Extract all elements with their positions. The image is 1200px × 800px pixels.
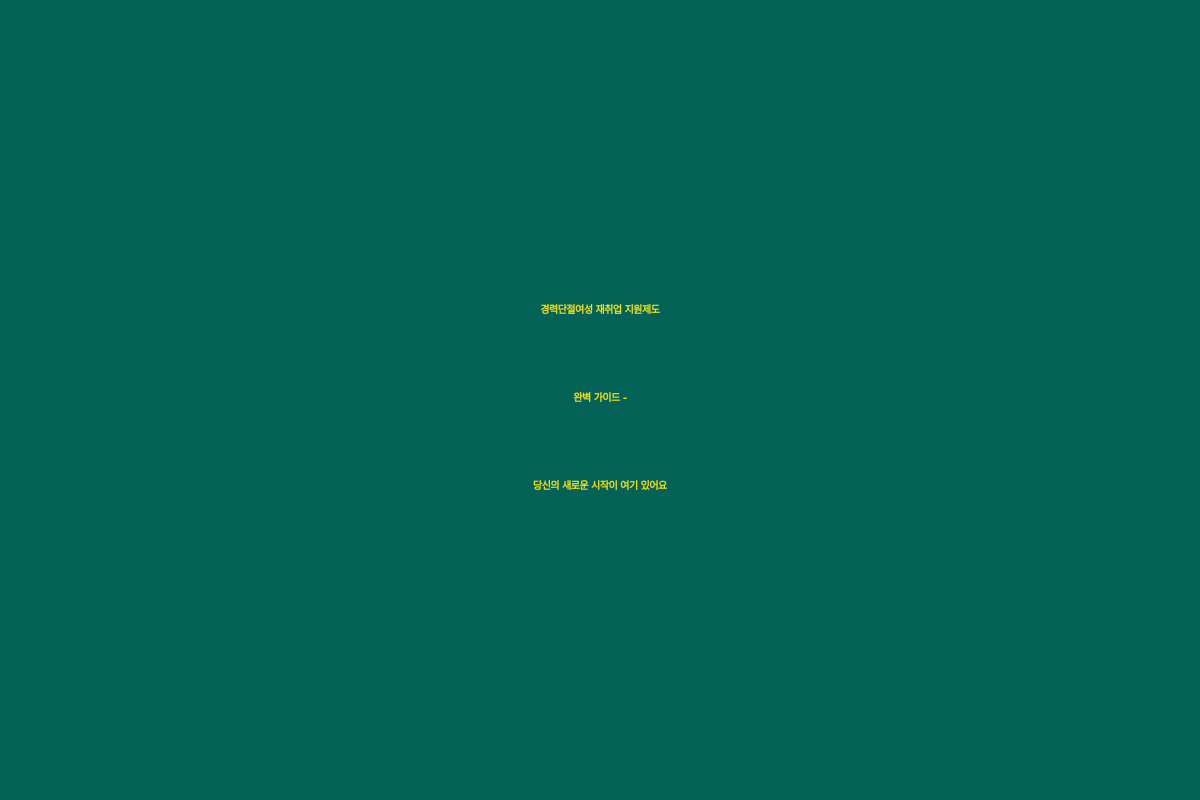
banner-canvas: 경력단절여성 재취업 지원제도 완벽 가이드 - 당신의 새로운 시작이 여기 … <box>0 0 1200 800</box>
title-line-2: 완벽 가이드 - <box>20 355 1180 443</box>
title-line-3: 당신의 새로운 시작이 여기 있어요 <box>20 443 1180 531</box>
page-title: 경력단절여성 재취업 지원제도 완벽 가이드 - 당신의 새로운 시작이 여기 … <box>20 267 1180 533</box>
title-line-1: 경력단절여성 재취업 지원제도 <box>20 267 1180 355</box>
